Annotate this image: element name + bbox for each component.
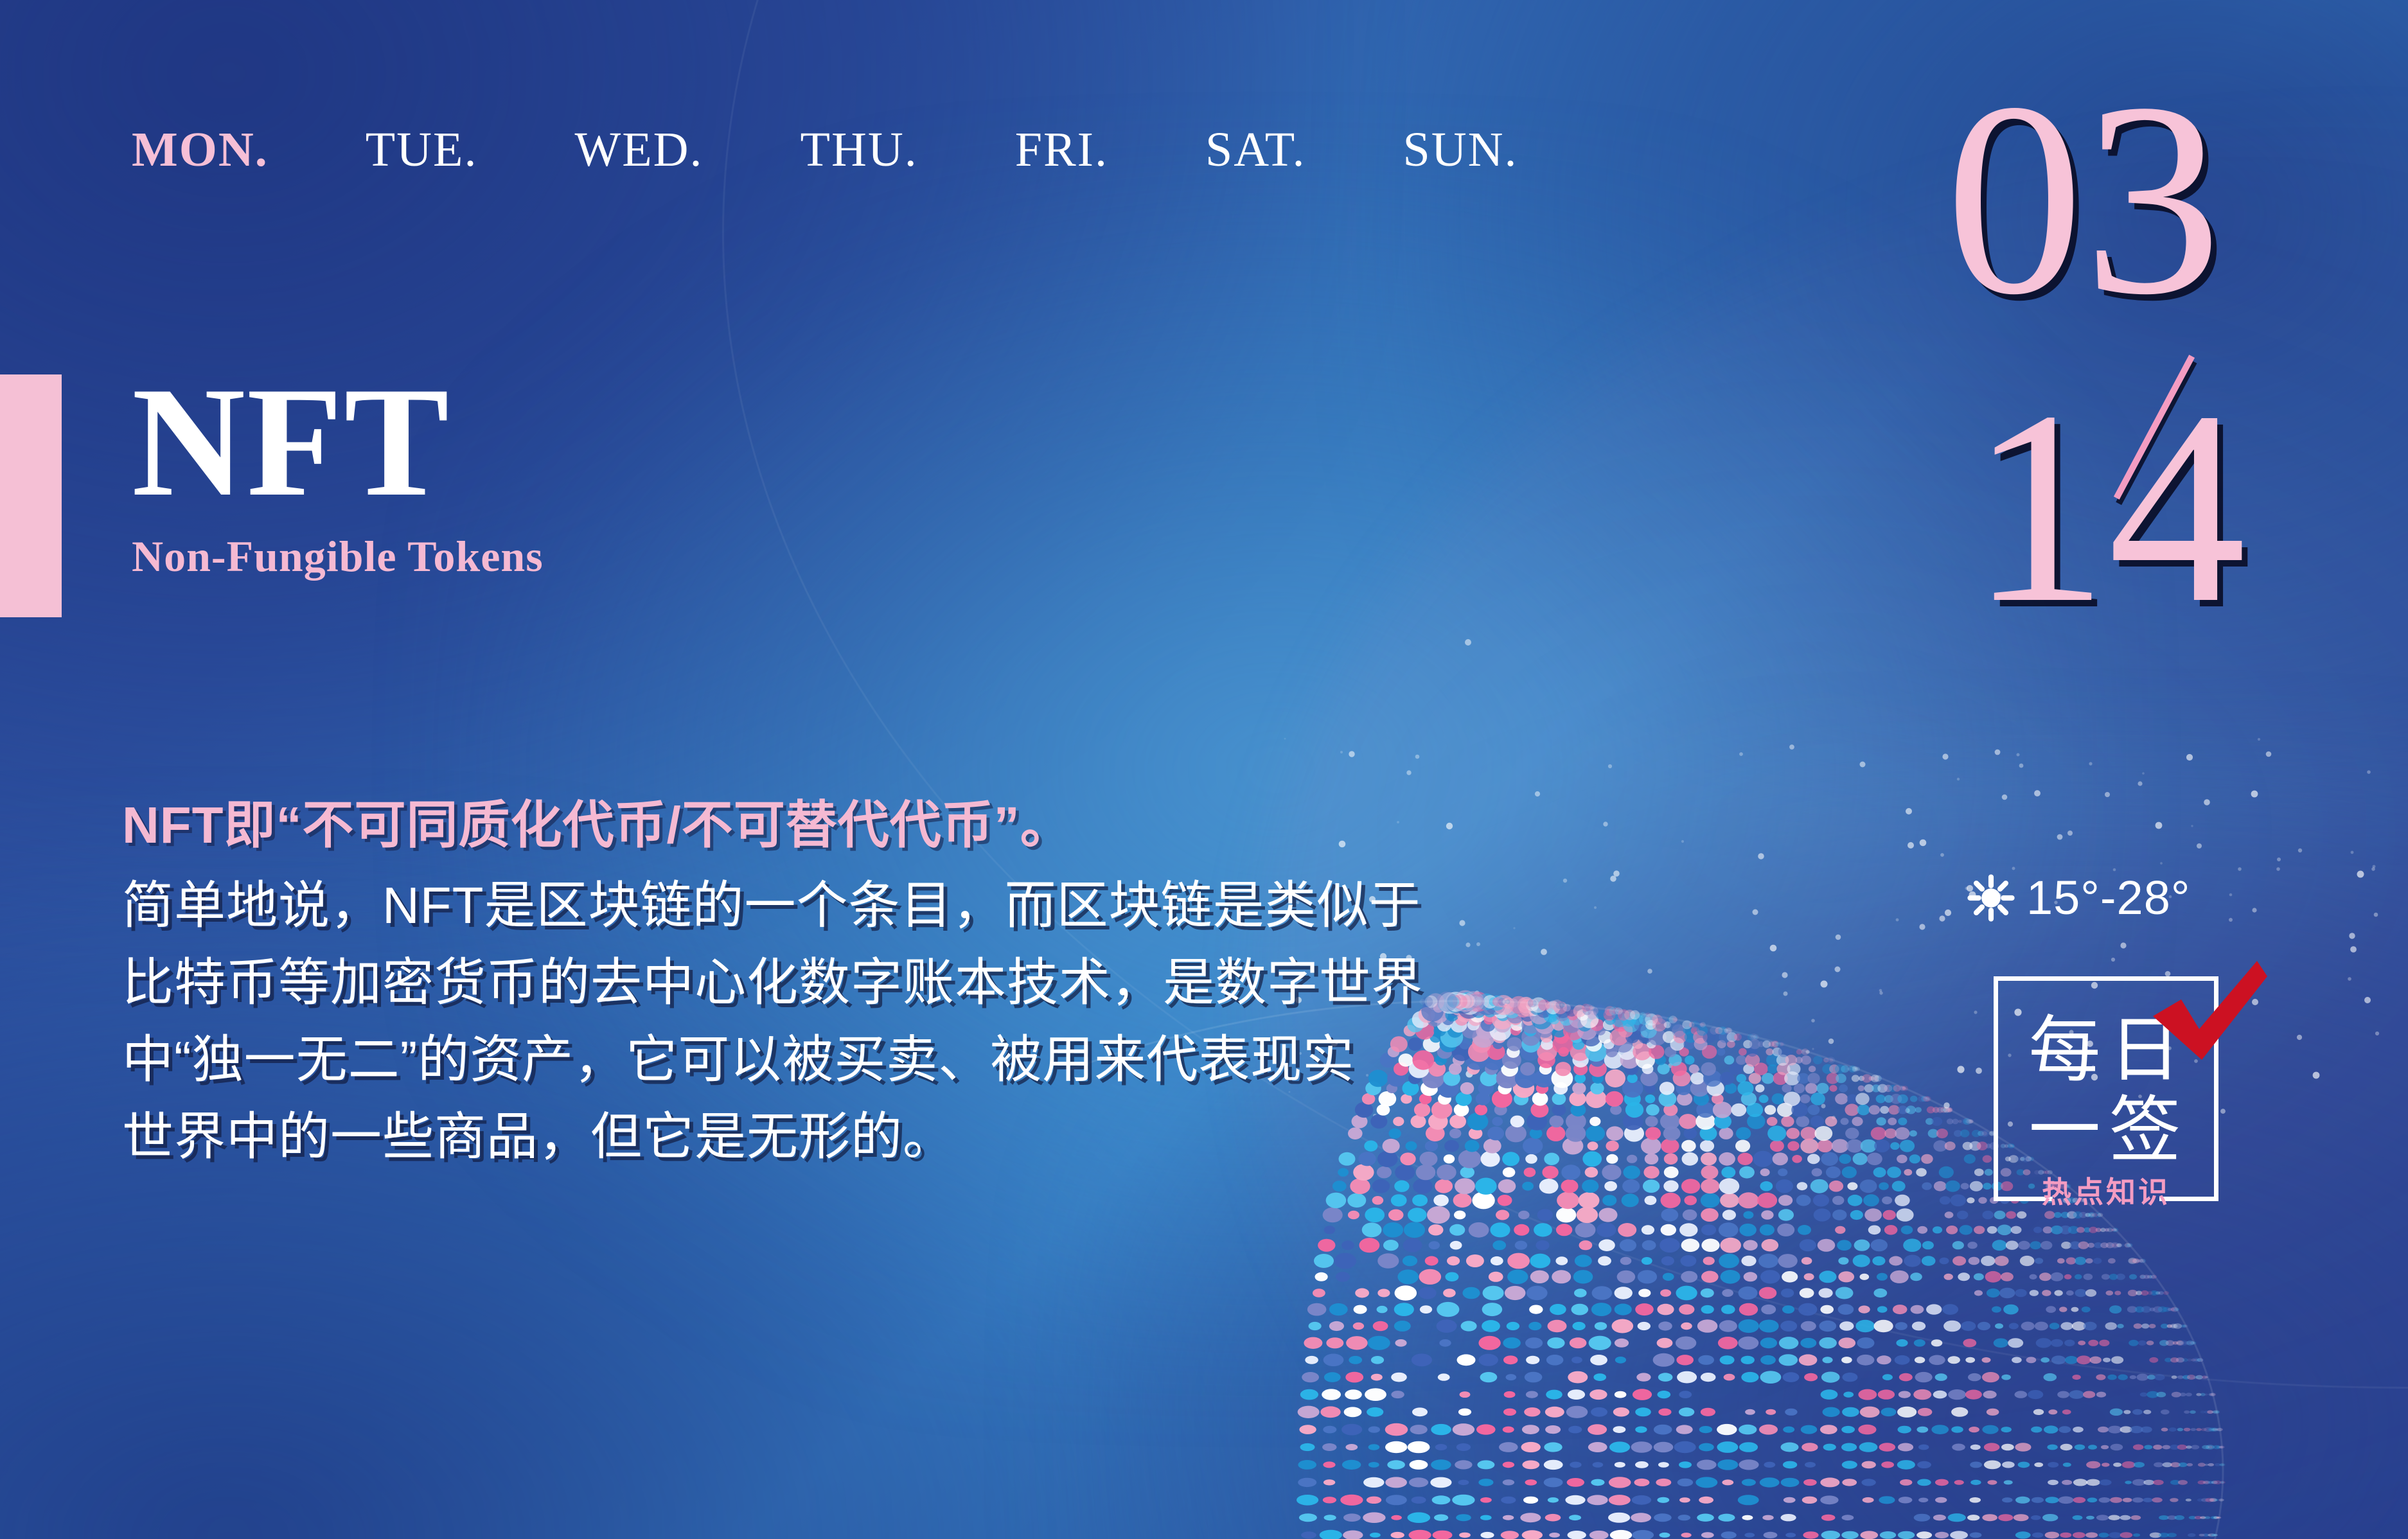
article-heading: NFT即“不可同质化代币/不可替代代币”。 — [122, 795, 1728, 856]
article-line: 简单地说，NFT是区块链的一个条目，而区块链是类似于 — [122, 867, 1728, 944]
temperature-range: 15°-28° — [2026, 870, 2190, 925]
stamp-char-3: 一 — [2024, 1090, 2105, 1170]
sun-icon — [1967, 874, 2015, 922]
stamp-char-4: 签 — [2105, 1090, 2185, 1170]
check-mark-icon — [2148, 957, 2270, 1069]
weekday-strip: MON. TUE. WED. THU. FRI. SAT. SUN. — [132, 122, 1518, 178]
page-subtitle: Non-Fungible Tokens — [132, 531, 544, 582]
date-day: 14 — [1970, 369, 2246, 646]
title-block: NFT Non-Fungible Tokens — [132, 366, 544, 582]
weekday-wed[interactable]: WED. — [574, 122, 703, 178]
daily-checkin-stamp[interactable]: 每 日 一 签 热点知识 — [1994, 976, 2218, 1201]
article-body: NFT即“不可同质化代币/不可替代代币”。 简单地说，NFT是区块链的一个条目，… — [122, 795, 1728, 1175]
weather-widget: 15°-28° — [1967, 870, 2190, 925]
accent-bar — [0, 374, 62, 617]
daily-knowledge-card: MON. TUE. WED. THU. FRI. SAT. SUN. NFT N… — [0, 0, 2408, 1539]
article-paragraph: 简单地说，NFT是区块链的一个条目，而区块链是类似于 比特币等加密货币的去中心化… — [122, 867, 1728, 1175]
stamp-char-1: 每 — [2024, 1010, 2105, 1090]
weekday-thu[interactable]: THU. — [801, 122, 918, 178]
weekday-sun[interactable]: SUN. — [1403, 122, 1518, 178]
weekday-fri[interactable]: FRI. — [1015, 122, 1108, 178]
weekday-tue[interactable]: TUE. — [366, 122, 478, 178]
article-line: 世界中的一些商品，但它是无形的。 — [122, 1098, 1728, 1175]
date-month: 03 — [1945, 61, 2222, 337]
date-block: 03 14 — [1939, 61, 2350, 716]
stamp-frame-left — [1994, 976, 1998, 1201]
weekday-sat[interactable]: SAT. — [1205, 122, 1306, 178]
article-line: 比特币等加密货币的去中心化数字账本技术，是数字世界 — [122, 944, 1728, 1021]
page-title: NFT — [132, 366, 544, 517]
weekday-mon[interactable]: MON. — [132, 122, 269, 178]
article-line: 中“独一无二”的资产，它可以被买卖、被用来代表现实 — [122, 1021, 1728, 1098]
stamp-caption: 热点知识 — [1994, 1169, 2218, 1211]
